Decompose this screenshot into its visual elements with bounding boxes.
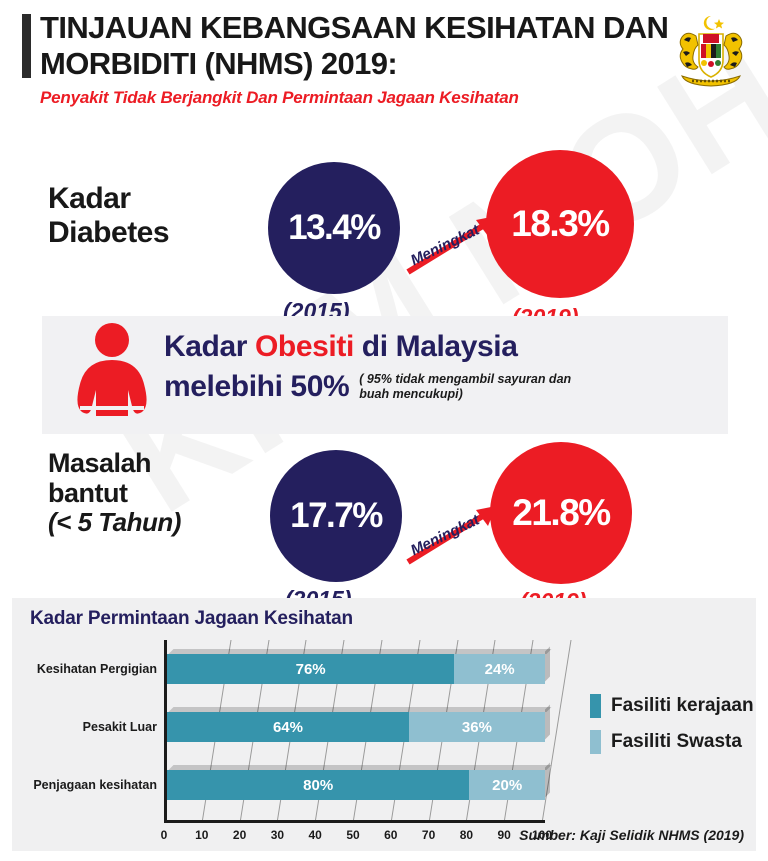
x-tick-label: 40	[309, 828, 322, 842]
x-tick-label: 60	[384, 828, 397, 842]
healthcare-demand-chart-panel: Kadar Permintaan Jagaan Kesihatan 010203…	[12, 598, 756, 851]
stat-label-stunting: Masalah bantut (< 5 Tahun)	[48, 448, 181, 538]
obesity-headline-part-1: Kadar	[164, 330, 255, 363]
stat-circle-after-diabetes: 18.3%	[486, 150, 634, 298]
x-tick-label: 30	[271, 828, 284, 842]
header: TINJAUAN KEBANGSAAN KESIHATAN DAN MORBID…	[0, 0, 768, 130]
title-line-1: TINJAUAN KEBANGSAAN KESIHATAN DAN	[40, 10, 650, 46]
bar-segment-gov[interactable]: 76%	[167, 654, 454, 684]
bar-segment-gov[interactable]: 64%	[167, 712, 409, 742]
legend-swatch-gov-icon	[590, 694, 601, 718]
page-subtitle: Penyakit Tidak Berjangkit Dan Permintaan…	[40, 88, 519, 108]
chart-plot-area: 0102030405060708090100 Kesihatan Pergigi…	[164, 640, 542, 820]
obesity-headline: Kadar Obesiti di Malaysia	[164, 330, 724, 364]
obesity-headline-part-2: di Malaysia	[354, 330, 518, 363]
x-tick-label: 20	[233, 828, 246, 842]
x-tick-label: 80	[460, 828, 473, 842]
legend-item-gov[interactable]: Fasiliti kerajaan	[590, 694, 754, 718]
bar-category-label: Pesakit Luar	[83, 720, 157, 734]
x-tick-label: 70	[422, 828, 435, 842]
obese-person-icon	[64, 320, 160, 432]
chart-title: Kadar Permintaan Jagaan Kesihatan	[30, 608, 353, 630]
legend-item-priv[interactable]: Fasiliti Swasta	[590, 730, 754, 754]
obesity-value: melebihi 50%	[164, 370, 349, 404]
bar-category-label: Penjagaan kesihatan	[33, 778, 157, 792]
legend-label-priv: Fasiliti Swasta	[611, 731, 742, 753]
x-tick-label: 50	[346, 828, 359, 842]
bar-category-label: Kesihatan Pergigian	[37, 662, 157, 676]
legend-swatch-priv-icon	[590, 730, 601, 754]
obesity-note: ( 95% tidak mengambil sayuran dan buah m…	[359, 372, 589, 403]
bar-group: Pesakit Luar64%36%	[167, 712, 545, 742]
chart-legend: Fasiliti kerajaan Fasiliti Swasta	[590, 694, 754, 766]
bar-group: Penjagaan kesihatan80%20%	[167, 770, 545, 800]
title-line-2: MORBIDITI (NHMS) 2019:	[40, 46, 650, 82]
stat-circle-after-stunting: 21.8%	[490, 442, 632, 584]
stat-label-line-2: bantut	[48, 478, 127, 508]
stat-row-diabetes: Kadar Diabetes 13.4% (2015) Meningkat 18…	[0, 150, 768, 305]
obesity-headline-highlight: Obesiti	[255, 330, 354, 363]
x-tick-label: 0	[161, 828, 168, 842]
stat-circle-before-diabetes: 13.4%	[268, 162, 400, 294]
legend-label-gov: Fasiliti kerajaan	[611, 695, 754, 717]
stat-circle-before-stunting: 17.7%	[270, 450, 402, 582]
bar-segment-priv[interactable]: 20%	[469, 770, 545, 800]
chart-source: Sumber: Kaji Selidik NHMS (2019)	[519, 827, 744, 843]
stat-label-diabetes: Kadar Diabetes	[48, 182, 169, 249]
x-tick-label: 10	[195, 828, 208, 842]
bar-segment-gov[interactable]: 80%	[167, 770, 469, 800]
stat-label-line-1: Kadar	[48, 182, 131, 215]
title-accent-bar	[22, 14, 31, 78]
stat-label-sub: (< 5 Tahun)	[48, 508, 181, 537]
bar-segment-priv[interactable]: 24%	[454, 654, 545, 684]
stat-label-line-2: Diabetes	[48, 216, 169, 249]
bar-segment-priv[interactable]: 36%	[409, 712, 545, 742]
obesity-text: Kadar Obesiti di Malaysia melebihi 50% (…	[164, 330, 724, 404]
bar-group: Kesihatan Pergigian76%24%	[167, 654, 545, 684]
x-axis	[164, 820, 545, 823]
x-tick-label: 90	[498, 828, 511, 842]
stat-label-line-1: Masalah	[48, 448, 151, 478]
obesity-band: Kadar Obesiti di Malaysia melebihi 50% (…	[42, 316, 728, 434]
malaysia-coat-of-arms-icon	[672, 10, 750, 94]
stat-row-stunting: Masalah bantut (< 5 Tahun) 17.7% (2015) …	[0, 440, 768, 600]
page-title: TINJAUAN KEBANGSAAN KESIHATAN DAN MORBID…	[40, 10, 650, 83]
